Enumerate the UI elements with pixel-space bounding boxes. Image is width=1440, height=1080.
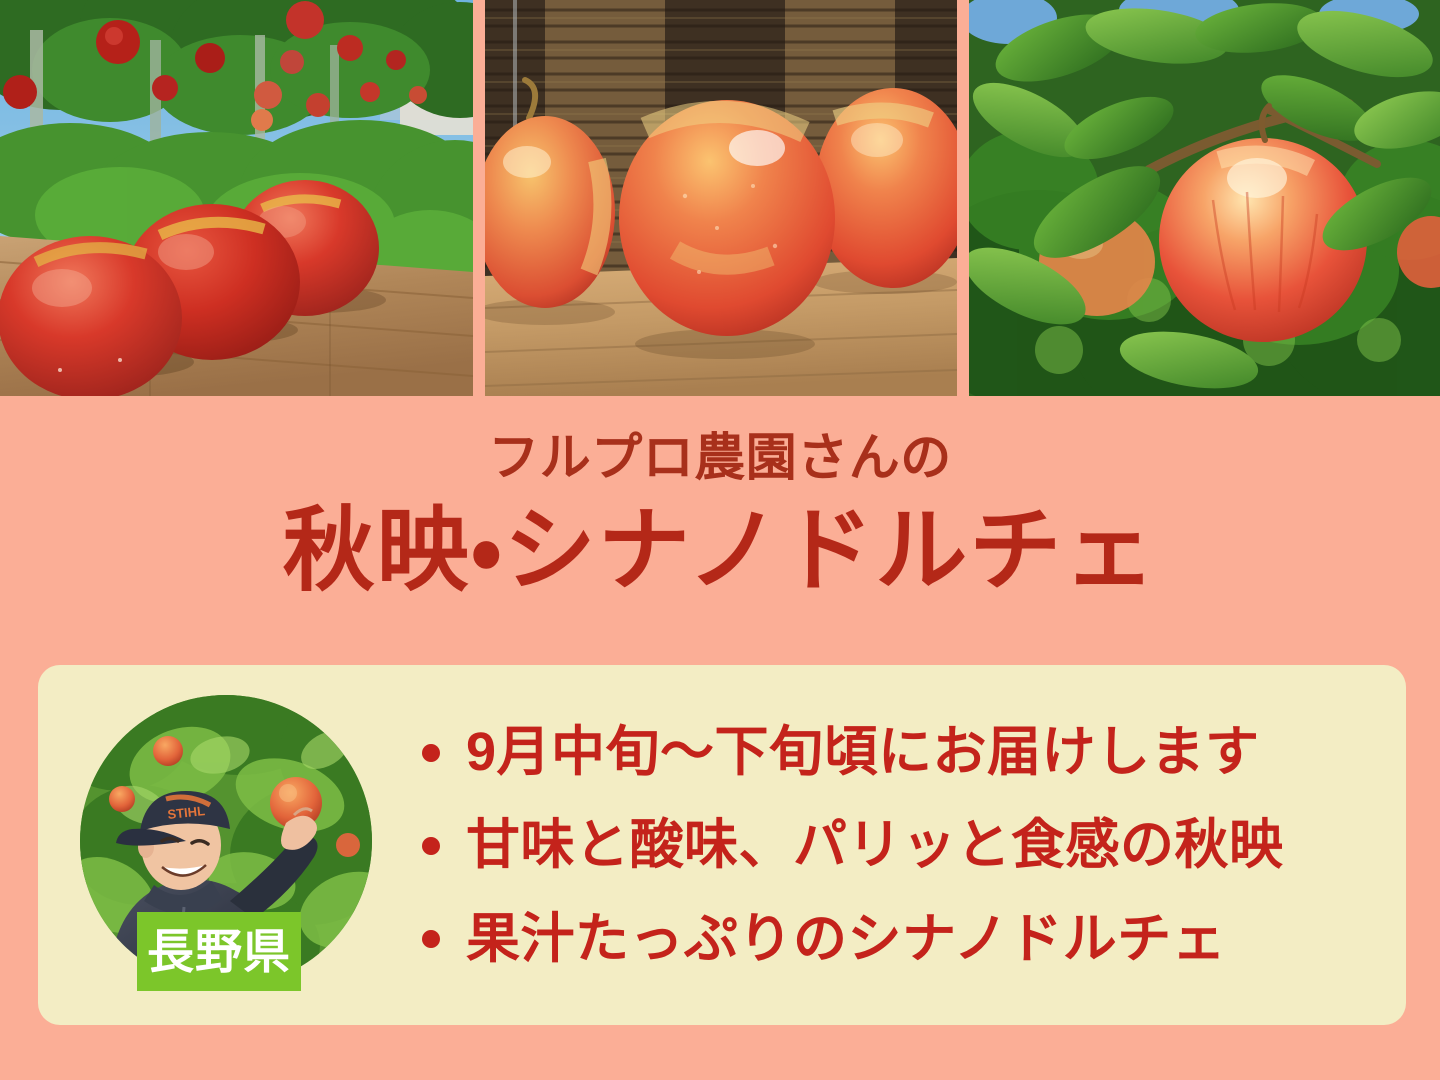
list-item: 9月中旬〜下旬頃にお届けします bbox=[410, 724, 1370, 781]
poster-title: 秋映・シナノドルチェ bbox=[0, 500, 1440, 603]
apples-with-boxes-illustration bbox=[485, 0, 957, 396]
list-item: 果汁たっぷりのシナノドルチェ bbox=[410, 911, 1370, 968]
photo-apple-on-tree-branch bbox=[969, 0, 1440, 396]
bullet-dot-icon bbox=[422, 837, 440, 855]
poster-root: フルプロ農園さんの 秋映・シナノドルチェ bbox=[0, 0, 1440, 1080]
apple-on-branch-illustration bbox=[969, 0, 1440, 396]
headline-block: フルプロ農園さんの 秋映・シナノドルチェ bbox=[0, 396, 1440, 664]
bullet-text: 甘味と酸味、パリッと食感の秋映 bbox=[466, 817, 1284, 874]
poster-subtitle: フルプロ農園さんの bbox=[0, 432, 1440, 483]
photo-three-apples-on-plank-in-orchard bbox=[0, 0, 473, 396]
bullet-dot-icon bbox=[422, 930, 440, 948]
bullet-text: 9月中旬〜下旬頃にお届けします bbox=[466, 724, 1260, 781]
feature-bullet-list: 9月中旬〜下旬頃にお届けします 甘味と酸味、パリッと食感の秋映 果汁たっぷりのシ… bbox=[410, 693, 1370, 999]
photo-three-apples-on-wood-with-boxes bbox=[485, 0, 957, 396]
prefecture-badge: 長野県 bbox=[137, 912, 301, 991]
photo-strip bbox=[0, 0, 1440, 396]
farmer-portrait-wrap: STIHL 長野県 bbox=[80, 695, 372, 987]
orchard-apples-illustration bbox=[0, 0, 473, 396]
info-panel: STIHL 長野県 9月中旬〜 bbox=[38, 665, 1406, 1025]
bullet-text: 果汁たっぷりのシナノドルチェ bbox=[466, 911, 1226, 968]
list-item: 甘味と酸味、パリッと食感の秋映 bbox=[410, 817, 1370, 874]
bullet-dot-icon bbox=[422, 744, 440, 762]
